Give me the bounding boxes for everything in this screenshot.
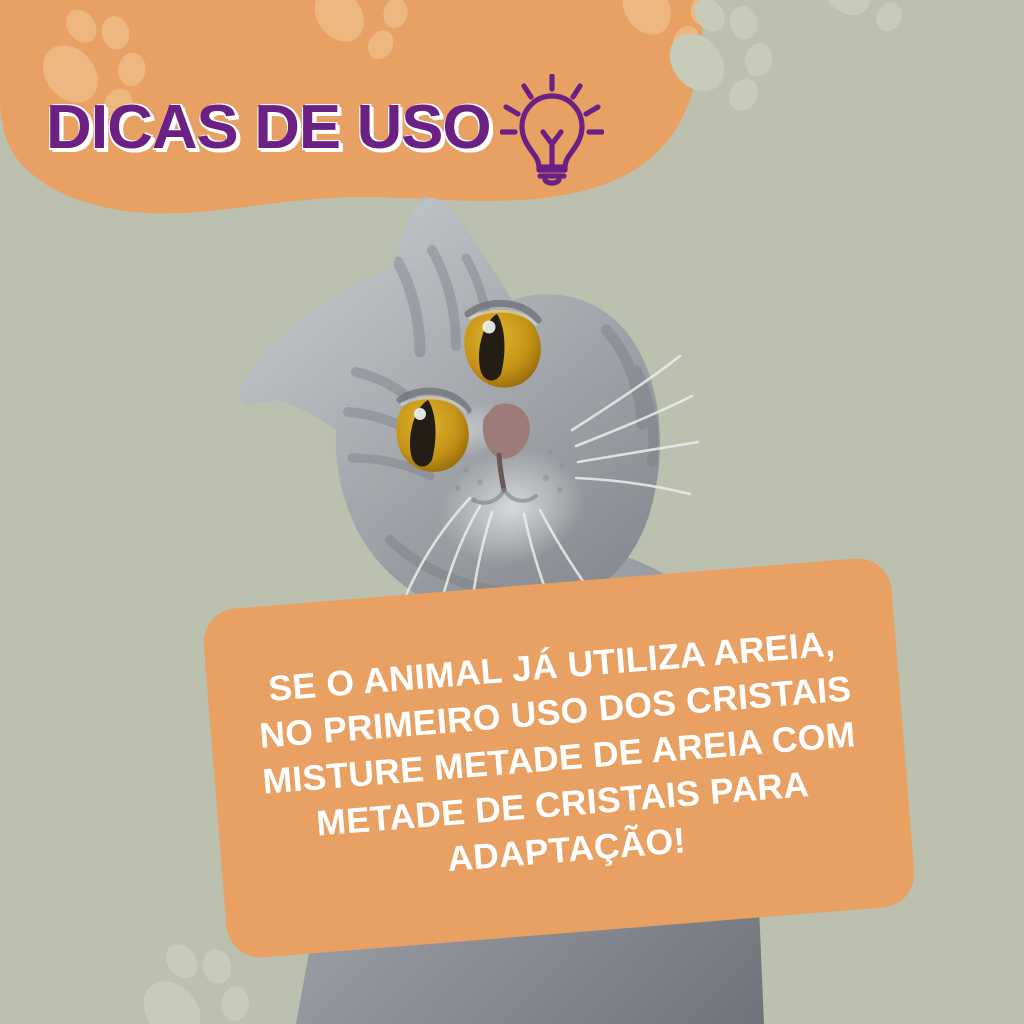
poster-canvas: DICAS DE USO [0,0,1024,1024]
page-title: DICAS DE USO [46,97,491,159]
tip-message-card: SE O ANIMAL JÁ UTILIZA AREIA,NO PRIMEIRO… [201,556,917,960]
lightbulb-icon [500,74,604,186]
cat-eye-lower [397,391,469,472]
header: DICAS DE USO [46,72,604,184]
tip-message-text: SE O ANIMAL JÁ UTILIZA AREIA,NO PRIMEIRO… [240,618,878,898]
cat-head [240,198,660,620]
